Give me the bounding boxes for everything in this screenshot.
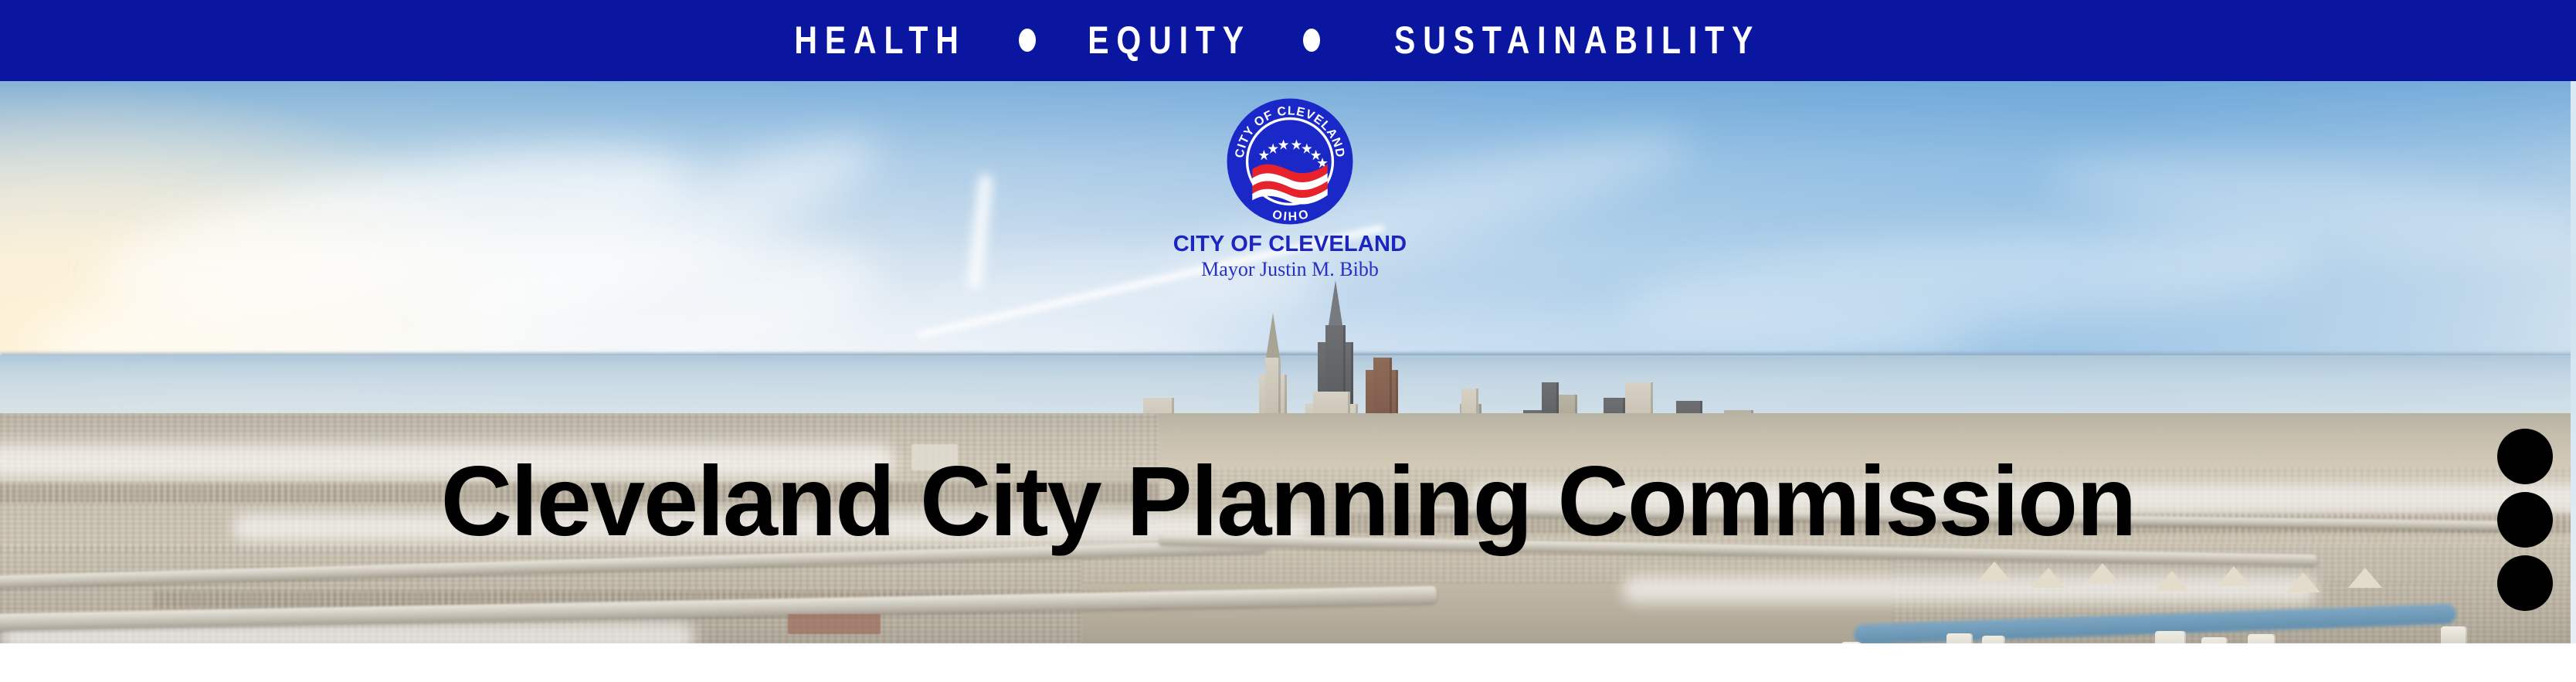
building-block [788, 614, 881, 634]
storage-tank [2201, 637, 2228, 643]
youtube-icon[interactable] [2497, 429, 2553, 484]
bullet-dot-icon [1019, 29, 1036, 52]
aggregate-pile [2217, 566, 2251, 586]
page-title: Cleveland City Planning Commission [0, 453, 2576, 551]
banner-word-sustainability: SUSTAINABILITY [1394, 21, 1760, 59]
storage-tank [1841, 642, 1862, 643]
seal-title: CITY OF CLEVELAND [1105, 232, 1475, 256]
aggregate-pile [1977, 562, 2011, 582]
seal-subtitle: Mayor Justin M. Bibb [1105, 259, 1475, 280]
hero-photo: CITY OF CLEVELAND OHIO CITY OF CLEVELAND… [0, 81, 2576, 643]
social-links [2496, 429, 2554, 611]
top-banner: HEALTH EQUITY SUSTAINABILITY [0, 0, 2576, 81]
city-of-cleveland-seal: CITY OF CLEVELAND OHIO [1225, 97, 1355, 226]
storage-tank [2441, 626, 2467, 643]
storage-tank [2248, 634, 2276, 643]
page-root: HEALTH EQUITY SUSTAINABILITY [0, 0, 2576, 682]
aggregate-pile [2348, 568, 2382, 588]
instagram-icon[interactable] [2497, 492, 2553, 548]
banner-slogan: HEALTH EQUITY SUSTAINABILITY [776, 21, 1800, 59]
banner-word-equity: EQUITY [1088, 21, 1251, 59]
storage-tank [1982, 636, 2005, 643]
snow-cover [1622, 575, 2317, 603]
bullet-dot-icon [1303, 29, 1320, 52]
storage-tank [1946, 633, 1973, 643]
storage-tank [2155, 631, 2186, 643]
aggregate-pile [2031, 568, 2065, 588]
aggregate-pile [2086, 563, 2120, 583]
city-seal-block: CITY OF CLEVELAND OHIO CITY OF CLEVELAND… [1105, 97, 1475, 280]
right-edge-strip [2571, 81, 2576, 643]
banner-word-health: HEALTH [794, 21, 966, 59]
aggregate-pile [2155, 571, 2189, 591]
facebook-icon[interactable] [2497, 555, 2553, 611]
aggregate-pile [2286, 572, 2320, 592]
